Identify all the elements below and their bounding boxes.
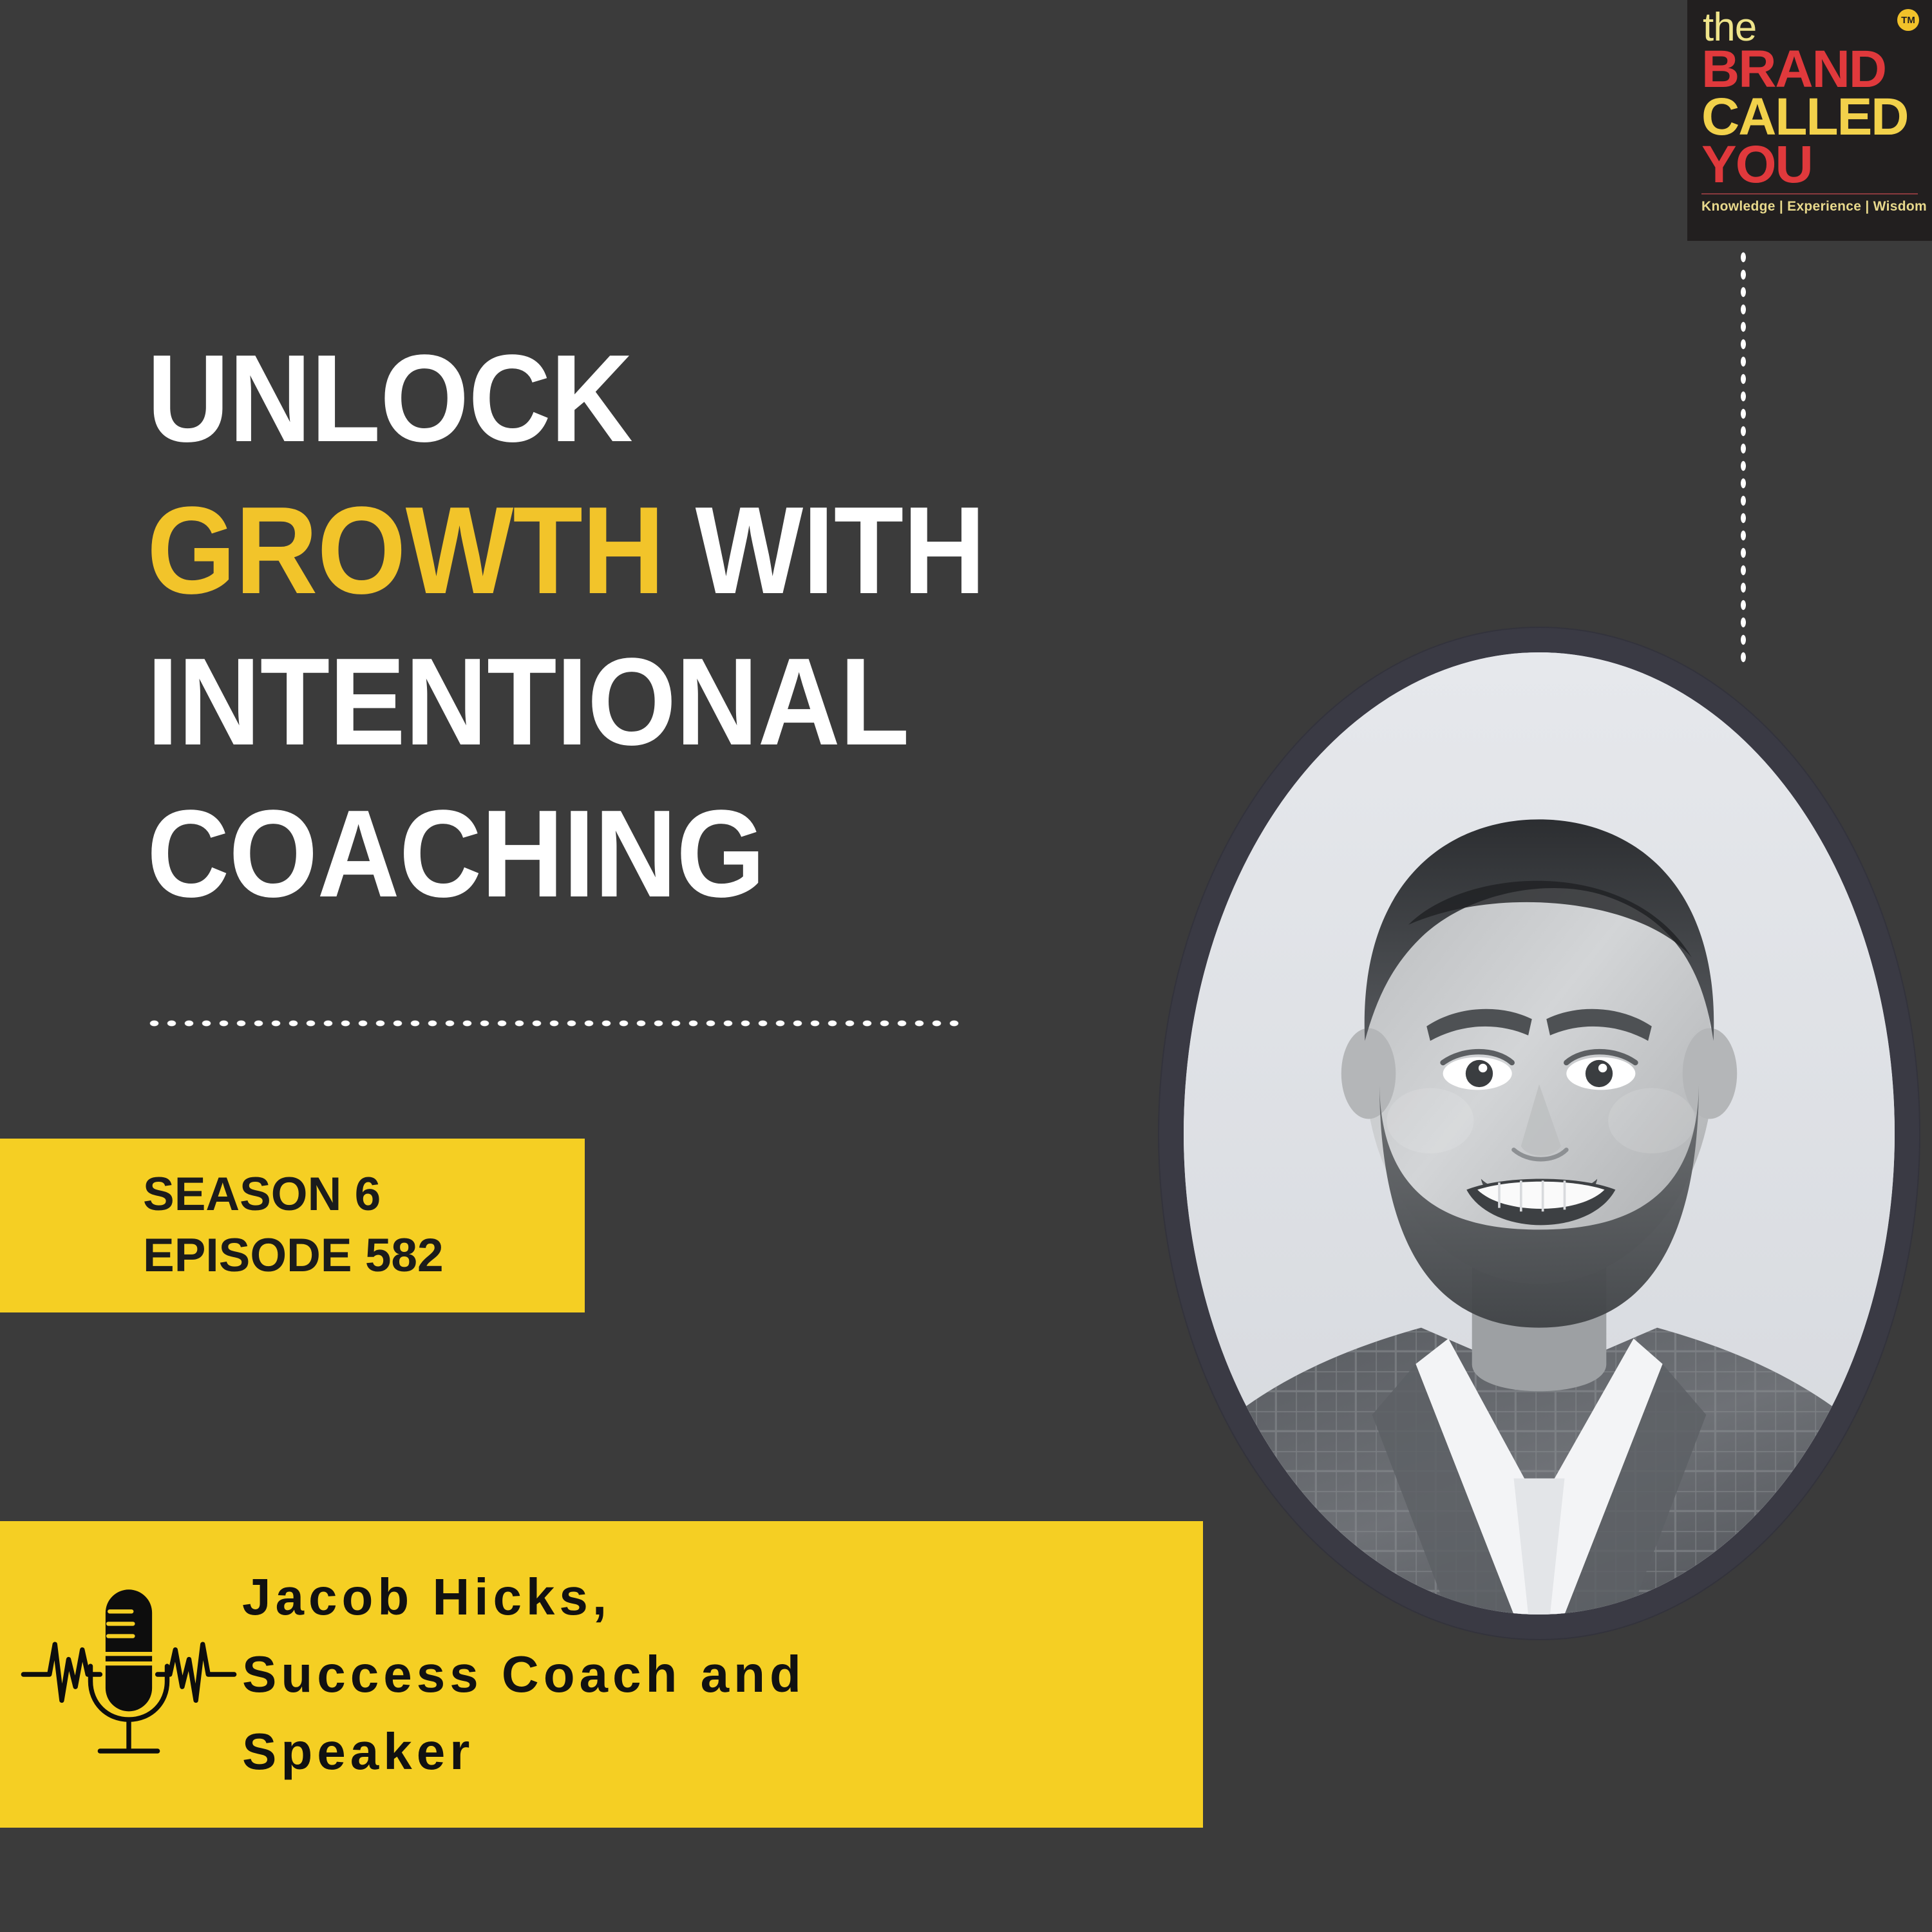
logo-you: YOU [1701, 141, 1918, 189]
dotted-divider [146, 1018, 963, 1029]
guest-name-text: Jacob Hicks, Success Coach and Speaker [242, 1558, 806, 1790]
logo-divider [1701, 193, 1918, 194]
trademark-icon: TM [1897, 9, 1919, 31]
season-label: SEASON 6 [143, 1164, 381, 1226]
brand-logo[interactable]: TM the BRAND CALLED YOU Knowledge | Expe… [1687, 0, 1932, 241]
guest-name-bar: Jacob Hicks, Success Coach and Speaker [0, 1521, 1203, 1828]
title-line-2-rest: WITH [664, 480, 985, 620]
logo-tagline: Knowledge | Experience | Wisdom [1701, 199, 1918, 214]
logo-brand: BRAND [1701, 46, 1918, 93]
guest-portrait [1159, 628, 1919, 1639]
season-episode-badge: SEASON 6 EPISODE 582 [0, 1139, 585, 1312]
portrait-photo [1184, 652, 1895, 1615]
vertical-dotted-line [1739, 249, 1748, 667]
episode-label: EPISODE 582 [143, 1226, 444, 1287]
microphone-waveform-icon [6, 1565, 251, 1784]
title-line-3: INTENTIONAL [147, 632, 909, 771]
logo-called: CALLED [1701, 93, 1918, 141]
title-line-1: UNLOCK [147, 328, 632, 468]
headshot-image [1184, 652, 1895, 1615]
podcast-cover: TM the BRAND CALLED YOU Knowledge | Expe… [0, 0, 1932, 1932]
page-title: UNLOCK GROWTH WITH INTENTIONAL COACHING [147, 323, 1166, 929]
title-line-2-highlight: GROWTH [147, 480, 664, 620]
title-line-4: COACHING [147, 784, 764, 923]
